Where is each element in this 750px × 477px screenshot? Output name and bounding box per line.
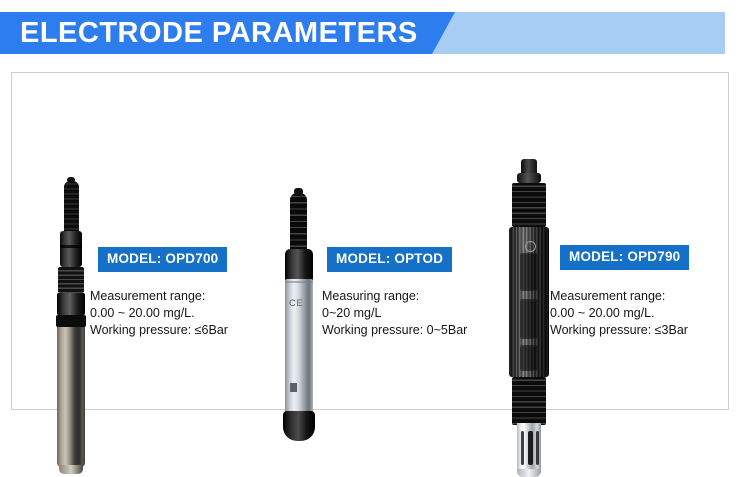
specs-opd700: Measurement range: 0.00 ~ 20.00 mg/L. Wo… — [90, 288, 228, 339]
spec-measurement-range-label: Measurement range: — [90, 288, 228, 305]
spec-measurement-range-value: 0.00 ~ 20.00 mg/L. — [550, 305, 688, 322]
cable-gland-icon — [60, 231, 82, 267]
housing-slot-icon — [520, 345, 538, 371]
probe-end-cap-icon — [283, 411, 315, 441]
spec-working-pressure: Working pressure: 0~5Bar — [322, 322, 467, 339]
spec-measurement-range-label: Measurement range: — [550, 288, 688, 305]
probe-ribbed-housing-icon — [509, 227, 549, 377]
model-badge-opd790: MODEL: OPD790 — [560, 245, 689, 270]
lower-thread-icon — [512, 377, 546, 425]
spec-working-pressure: Working pressure: ≤6Bar — [90, 322, 228, 339]
upper-thread-icon — [512, 183, 546, 227]
spec-working-pressure: Working pressure: ≤3Bar — [550, 322, 688, 339]
probe-image-optod: CΕ — [274, 193, 326, 443]
probe-chrome-body-icon: CΕ — [285, 279, 313, 415]
ce-mark-icon: CΕ — [289, 299, 304, 308]
probe-steel-barrel-icon — [57, 327, 85, 467]
housing-emblem-icon — [525, 241, 536, 252]
housing-slot-icon — [520, 299, 538, 339]
specs-opd790: Measurement range: 0.00 ~ 20.00 mg/L. Wo… — [550, 288, 688, 339]
probe-collar-icon — [57, 293, 85, 315]
cable-strain-relief-icon — [290, 193, 307, 251]
probe-image-opd700 — [48, 181, 94, 473]
cable-strain-relief-icon — [64, 181, 79, 233]
connector-ring-icon — [517, 173, 541, 183]
page-title: ELECTRODE PARAMETERS — [20, 12, 418, 54]
guard-base-icon — [517, 469, 541, 477]
threaded-nut-icon — [58, 267, 84, 293]
guard-slot-icon — [536, 431, 539, 465]
guard-slot-icon — [521, 431, 524, 465]
content-panel: MODEL: OPD700 Measurement range: 0.00 ~ … — [11, 72, 729, 410]
housing-slot-icon — [520, 253, 538, 291]
spec-measurement-range-value: 0.00 ~ 20.00 mg/L. — [90, 305, 228, 322]
spec-measuring-range-label: Measuring range: — [322, 288, 467, 305]
probe-tip-icon — [59, 465, 83, 474]
page-header-banner: ELECTRODE PARAMETERS — [0, 12, 750, 54]
model-badge-opd700: MODEL: OPD700 — [98, 247, 227, 272]
spec-measuring-range-value: 0~20 mg/L — [322, 305, 467, 322]
guard-slot-icon — [528, 431, 533, 465]
probe-sticker-icon — [290, 383, 297, 392]
specs-optod: Measuring range: 0~20 mg/L Working press… — [322, 288, 467, 339]
probe-seal-ring-icon — [56, 315, 86, 327]
model-badge-optod: MODEL: OPTOD — [327, 247, 452, 272]
probe-top-cap-icon — [285, 249, 313, 281]
